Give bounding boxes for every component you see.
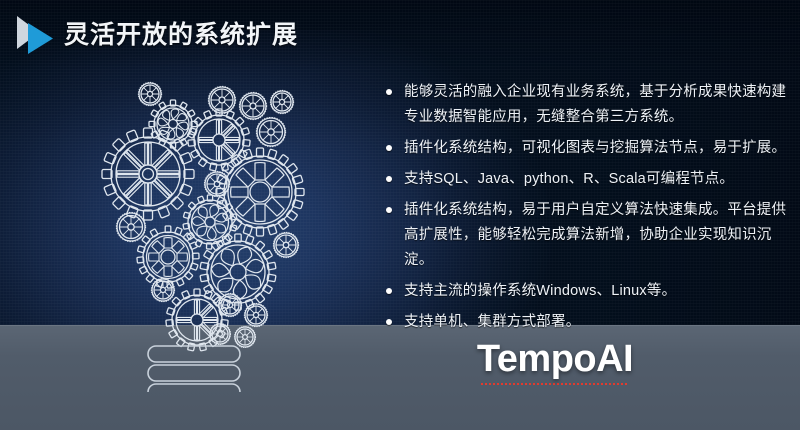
bullet-dot-icon (386, 176, 392, 182)
play-triangle-icon (14, 13, 56, 57)
page-title: 灵活开放的系统扩展 (64, 23, 298, 48)
bullet-text: 能够灵活的融入企业现有业务系统，基于分析成果快速构建专业数据智能应用，无缝整合第… (404, 84, 786, 125)
slide-header: 灵活开放的系统扩展 (14, 12, 298, 58)
slide-canvas: 灵活开放的系统扩展 (0, 0, 800, 430)
spellcheck-underline (481, 383, 629, 385)
bullet-text: 插件化系统结构，易于用户自定义算法快速集成。平台提供高扩展性，能够轻松完成算法新… (404, 202, 786, 268)
list-item: 支持单机、集群方式部署。 (384, 310, 794, 335)
bullet-dot-icon (386, 207, 392, 213)
bullet-text: 插件化系统结构，可视化图表与挖掘算法节点，易于扩展。 (404, 140, 786, 156)
list-item: 支持SQL、Java、python、R、Scala可编程节点。 (384, 167, 794, 192)
bullet-dot-icon (386, 319, 392, 325)
brand-logo: TempoAI (430, 340, 680, 385)
bullet-text: 支持SQL、Java、python、R、Scala可编程节点。 (404, 171, 734, 187)
lightbulb-gears-illustration (90, 62, 340, 392)
brand-logo-text: TempoAI (477, 340, 633, 382)
bullet-text: 支持主流的操作系统Windows、Linux等。 (404, 283, 676, 299)
bullet-dot-icon (386, 288, 392, 294)
list-item: 能够灵活的融入企业现有业务系统，基于分析成果快速构建专业数据智能应用，无缝整合第… (384, 80, 794, 130)
bullet-text: 支持单机、集群方式部署。 (404, 314, 580, 330)
bullet-dot-icon (386, 145, 392, 151)
feature-bullet-list: 能够灵活的融入企业现有业务系统，基于分析成果快速构建专业数据智能应用，无缝整合第… (384, 80, 794, 335)
list-item: 插件化系统结构，易于用户自定义算法快速集成。平台提供高扩展性，能够轻松完成算法新… (384, 198, 794, 273)
bullet-dot-icon (386, 89, 392, 95)
list-item: 支持主流的操作系统Windows、Linux等。 (384, 279, 794, 304)
list-item: 插件化系统结构，可视化图表与挖掘算法节点，易于扩展。 (384, 136, 794, 161)
